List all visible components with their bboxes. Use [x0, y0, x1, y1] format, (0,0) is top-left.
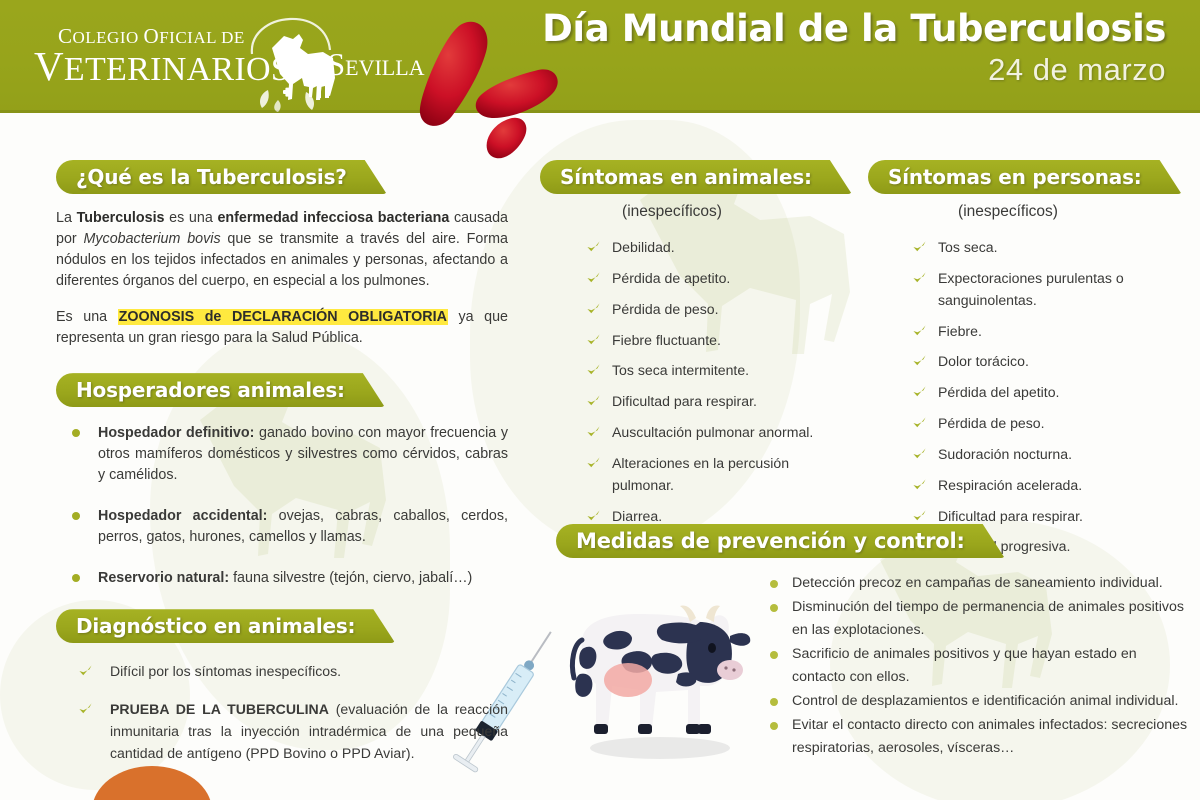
bullet-dot-icon: [770, 722, 778, 730]
list-item-label: Hospedador accidental:: [98, 508, 267, 524]
check-icon: [912, 324, 927, 338]
column-left: ¿Qué es la Tuberculosis? La Tuberculosis…: [56, 160, 508, 774]
text-frag-italic: Mycobacterium bovis: [83, 231, 220, 247]
list-item: Dificultad para respirar.: [582, 391, 850, 413]
check-icon: [912, 447, 927, 461]
symptoms-people-list: Tos seca. Expectoraciones purulentas o s…: [908, 237, 1188, 558]
list-item: Sacrificio de animales positivos y que h…: [764, 643, 1188, 689]
symptoms-animals-list: Debilidad. Pérdida de apetito. Pérdida d…: [582, 237, 850, 527]
list-item-text: Dolor torácico.: [938, 353, 1029, 369]
list-item-text: Tos seca.: [938, 239, 998, 255]
check-icon: [586, 302, 601, 316]
list-item-text: Expectoraciones purulentas o sanguinolen…: [938, 270, 1124, 308]
column-symptoms-people: Síntomas en personas: (inespecíficos) To…: [868, 160, 1188, 567]
list-item-text: Evitar el contacto directo con animales …: [792, 717, 1187, 756]
bullet-dot-icon: [770, 580, 778, 588]
zoonosis-highlight: ZOONOSIS de DECLARACIÓN OBLIGATORIA: [118, 309, 448, 325]
section-prevention: Medidas de prevención y control:: [556, 524, 1188, 761]
section-tab-hosts[interactable]: Hosperadores animales:: [56, 373, 385, 407]
list-item: Hospedador definitivo: ganado bovino con…: [56, 423, 508, 486]
check-icon: [912, 416, 927, 430]
section-tab-symptoms-people[interactable]: Síntomas en personas:: [868, 160, 1182, 194]
list-item: Fiebre.: [908, 321, 1188, 343]
list-item: Debilidad.: [582, 237, 850, 259]
symptoms-people-note: (inespecíficos): [868, 203, 1188, 221]
check-icon: [912, 354, 927, 368]
list-item: Alteraciones en la percusión pulmonar.: [582, 453, 850, 497]
list-item-text: Difícil por los síntomas inespecíficos.: [110, 663, 341, 679]
list-item-text: Fiebre.: [938, 323, 982, 339]
text-frag: La: [56, 210, 77, 226]
section-tab-diagnosis[interactable]: Diagnóstico en animales:: [56, 609, 395, 643]
page-subtitle: 24 de marzo: [542, 52, 1166, 88]
page-title: Día Mundial de la Tuberculosis: [542, 6, 1166, 51]
section-tab-prevention[interactable]: Medidas de prevención y control:: [556, 524, 1005, 558]
list-item: Detección precoz en campañas de saneamie…: [764, 572, 1188, 595]
list-item-text: Dificultad para respirar.: [612, 393, 757, 409]
bullet-dot-icon: [770, 651, 778, 659]
list-item-text: Control de desplazamientos e identificac…: [792, 693, 1178, 709]
bullet-dot-icon: [770, 604, 778, 612]
check-icon: [586, 363, 601, 377]
text-frag-bold: enfermedad infecciosa bacteriana: [217, 210, 449, 226]
symptoms-animals-note: (inespecíficos): [540, 203, 850, 221]
list-item-text: Detección precoz en campañas de saneamie…: [792, 575, 1163, 591]
list-item-text: Auscultación pulmonar anormal.: [612, 424, 813, 440]
section-tab-what-is[interactable]: ¿Qué es la Tuberculosis?: [56, 160, 387, 194]
check-icon: [78, 664, 93, 678]
bullet-dot-icon: [72, 574, 80, 582]
list-item-text: Debilidad.: [612, 239, 675, 255]
prevention-list: Detección precoz en campañas de saneamie…: [764, 572, 1188, 760]
horse-dog-cat-cross-emblem: [228, 12, 348, 112]
list-item: Sudoración nocturna.: [908, 444, 1188, 466]
list-item: Pérdida del apetito.: [908, 382, 1188, 404]
check-icon: [586, 509, 601, 523]
list-item-text: Alteraciones en la percusión pulmonar.: [612, 455, 789, 493]
check-icon: [912, 385, 927, 399]
list-item: Auscultación pulmonar anormal.: [582, 422, 850, 444]
section-tab-symptoms-animals[interactable]: Síntomas en animales:: [540, 160, 852, 194]
list-item-text: Pérdida del apetito.: [938, 384, 1059, 400]
list-item-text: Fiebre fluctuante.: [612, 332, 721, 348]
list-item: PRUEBA DE LA TUBERCULINA (evaluación de …: [56, 699, 508, 765]
list-item-text: Pérdida de peso.: [938, 415, 1045, 431]
tuberculosis-bacilli-illustration: [412, 8, 602, 168]
list-item: Tos seca.: [908, 237, 1188, 259]
holstein-cow-illustration: [560, 578, 756, 768]
check-icon: [586, 456, 601, 470]
list-item: Evitar el contacto directo con animales …: [764, 714, 1188, 760]
list-item-text: Sacrificio de animales positivos y que h…: [792, 646, 1137, 685]
bullet-dot-icon: [72, 512, 80, 520]
what-is-paragraph-1: La Tuberculosis es una enfermedad infecc…: [56, 208, 508, 292]
list-item-text: Respiración acelerada.: [938, 477, 1082, 493]
list-item: Control de desplazamientos e identificac…: [764, 690, 1188, 713]
hosts-list: Hospedador definitivo: ganado bovino con…: [56, 423, 508, 589]
list-item-text: fauna silvestre (tejón, ciervo, jabalí…): [229, 570, 472, 586]
check-icon: [912, 509, 927, 523]
check-icon: [912, 271, 927, 285]
list-item-text: Disminución del tiempo de permanencia de…: [792, 599, 1184, 638]
list-item: Respiración acelerada.: [908, 475, 1188, 497]
text-frag: Es una: [56, 309, 118, 325]
list-item-label: PRUEBA DE LA TUBERCULINA: [110, 701, 329, 717]
list-item-text: Pérdida de peso.: [612, 301, 719, 317]
diagnosis-list: Difícil por los síntomas inespecíficos. …: [56, 661, 508, 764]
check-icon: [78, 702, 93, 716]
list-item: Tos seca intermitente.: [582, 360, 850, 382]
poster-canvas: HIGIENE SALUD CColegioolegio Oficial de …: [0, 0, 1200, 800]
list-item: Pérdida de apetito.: [582, 268, 850, 290]
check-icon: [586, 271, 601, 285]
check-icon: [586, 240, 601, 254]
list-item-text: Pérdida de apetito.: [612, 270, 730, 286]
check-icon: [586, 333, 601, 347]
list-item: Pérdida de peso.: [908, 413, 1188, 435]
list-item-text: Tos seca intermitente.: [612, 362, 749, 378]
colegio-logo[interactable]: CColegioolegio Oficial de Veterinarios d…: [28, 10, 418, 105]
title-block: Día Mundial de la Tuberculosis 24 de mar…: [542, 6, 1166, 88]
list-item: Disminución del tiempo de permanencia de…: [764, 596, 1188, 642]
column-symptoms-animals: Síntomas en animales: (inespecíficos) De…: [540, 160, 850, 536]
list-item-text: Dificultad para respirar.: [938, 508, 1083, 524]
list-item: Dolor torácico.: [908, 351, 1188, 373]
list-item: Expectoraciones purulentas o sanguinolen…: [908, 268, 1188, 312]
bullet-dot-icon: [72, 429, 80, 437]
text-frag: es una: [165, 210, 218, 226]
list-item: Fiebre fluctuante.: [582, 330, 850, 352]
list-item-label: Reservorio natural:: [98, 570, 229, 586]
check-icon: [586, 425, 601, 439]
what-is-paragraph-2: Es una ZOONOSIS de DECLARACIÓN OBLIGATOR…: [56, 307, 508, 349]
list-item: Difícil por los síntomas inespecíficos.: [56, 661, 508, 683]
check-icon: [912, 478, 927, 492]
list-item-text: Diarrea.: [612, 508, 662, 524]
list-item: Reservorio natural: fauna silvestre (tej…: [56, 568, 508, 589]
list-item-label: Hospedador definitivo:: [98, 425, 254, 441]
text-frag-bold: Tuberculosis: [77, 210, 165, 226]
check-icon: [912, 240, 927, 254]
bullet-dot-icon: [770, 698, 778, 706]
list-item: Hospedador accidental: ovejas, cabras, c…: [56, 506, 508, 548]
check-icon: [586, 394, 601, 408]
list-item-text: Sudoración nocturna.: [938, 446, 1072, 462]
list-item: Pérdida de peso.: [582, 299, 850, 321]
